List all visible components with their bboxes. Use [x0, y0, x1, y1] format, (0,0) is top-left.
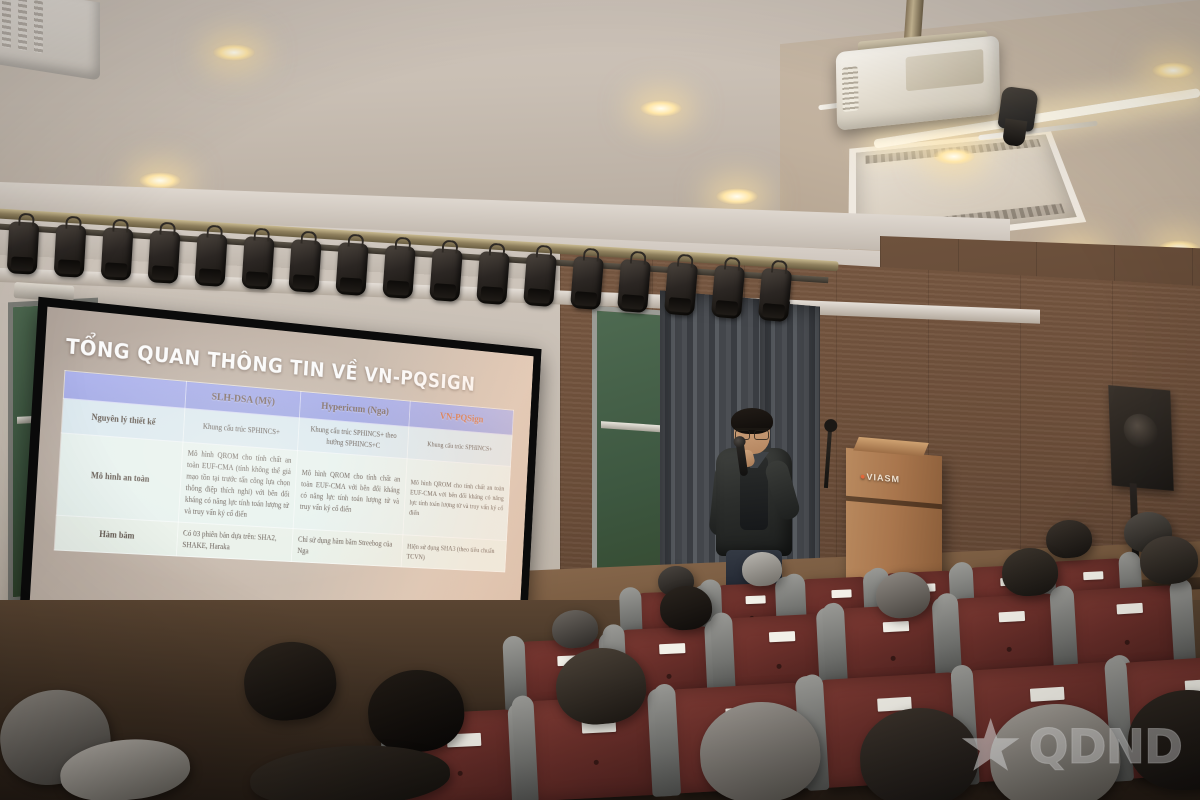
stage-light	[664, 262, 698, 316]
seat-number-label	[745, 595, 765, 603]
seat-number-label	[831, 589, 851, 597]
watermark: QDND	[961, 718, 1182, 776]
eyeglasses-icon	[735, 428, 769, 435]
downlight	[1152, 62, 1194, 79]
downlight	[716, 188, 758, 205]
seat-number-label	[660, 643, 686, 654]
row-cell: Mô hình QROM cho tính chất an toàn EUF-C…	[178, 442, 298, 529]
stage-light	[617, 259, 651, 313]
stage-light	[711, 265, 745, 319]
seat-number-label	[1083, 571, 1103, 580]
row-cell: Mô hình QROM cho tính chất an toàn EUF-C…	[293, 451, 407, 535]
row-label: Hàm băm	[54, 515, 178, 556]
star-icon	[961, 718, 1021, 776]
conference-photo: TỔNG QUAN THÔNG TIN VỀ VN-PQSIGN SLH-DSA…	[0, 0, 1200, 800]
stage-light	[288, 239, 321, 293]
row-label: Mô hình an toàn	[56, 433, 182, 522]
downlight	[640, 100, 682, 117]
stage-light	[241, 236, 274, 290]
seat-number-label	[1030, 687, 1065, 702]
air-conditioner-unit	[0, 0, 100, 81]
row-cell: Mô hình QROM cho tính chất an toàn EUF-C…	[402, 459, 510, 541]
seat-number-label	[883, 621, 909, 632]
seat-number-label	[998, 611, 1025, 622]
watermark-brand: QDND	[1029, 720, 1182, 775]
audience-member-head	[741, 551, 783, 587]
row-cell: Chỉ sử dụng hàm băm Streebog của Nga	[291, 529, 402, 567]
stage-light	[523, 253, 557, 307]
downlight	[213, 44, 255, 61]
ceiling-camera	[997, 86, 1038, 133]
loudspeaker	[1108, 385, 1173, 491]
seat-number-label	[1116, 603, 1143, 614]
stage-light	[54, 224, 87, 278]
stage-light	[335, 242, 368, 296]
row-cell: Có 03 phiên bản dựa trên: SHA2, SHAKE, H…	[176, 522, 293, 561]
viasm-logo: ●VIASM	[860, 471, 900, 484]
stage-light	[758, 268, 792, 322]
audience-member-head	[1139, 535, 1199, 585]
stage-light	[101, 227, 134, 281]
stage-light	[429, 248, 463, 302]
stage-light	[148, 230, 181, 284]
stage-light	[382, 245, 416, 299]
slide-content: TỔNG QUAN THÔNG TIN VỀ VN-PQSIGN SLH-DSA…	[28, 307, 534, 648]
row-cell: Hiện sử dụng SHA3 (theo tiêu chuẩn TCVN)	[401, 535, 507, 572]
seat-number-label	[769, 631, 795, 642]
downlight	[933, 148, 975, 165]
stage-light	[476, 250, 510, 304]
stage-light	[570, 256, 604, 310]
stage-light	[7, 221, 40, 274]
comparison-table: SLH-DSA (Mỹ) Hypericum (Nga) VN-PQSign N…	[54, 370, 514, 572]
stage-light	[194, 233, 227, 287]
